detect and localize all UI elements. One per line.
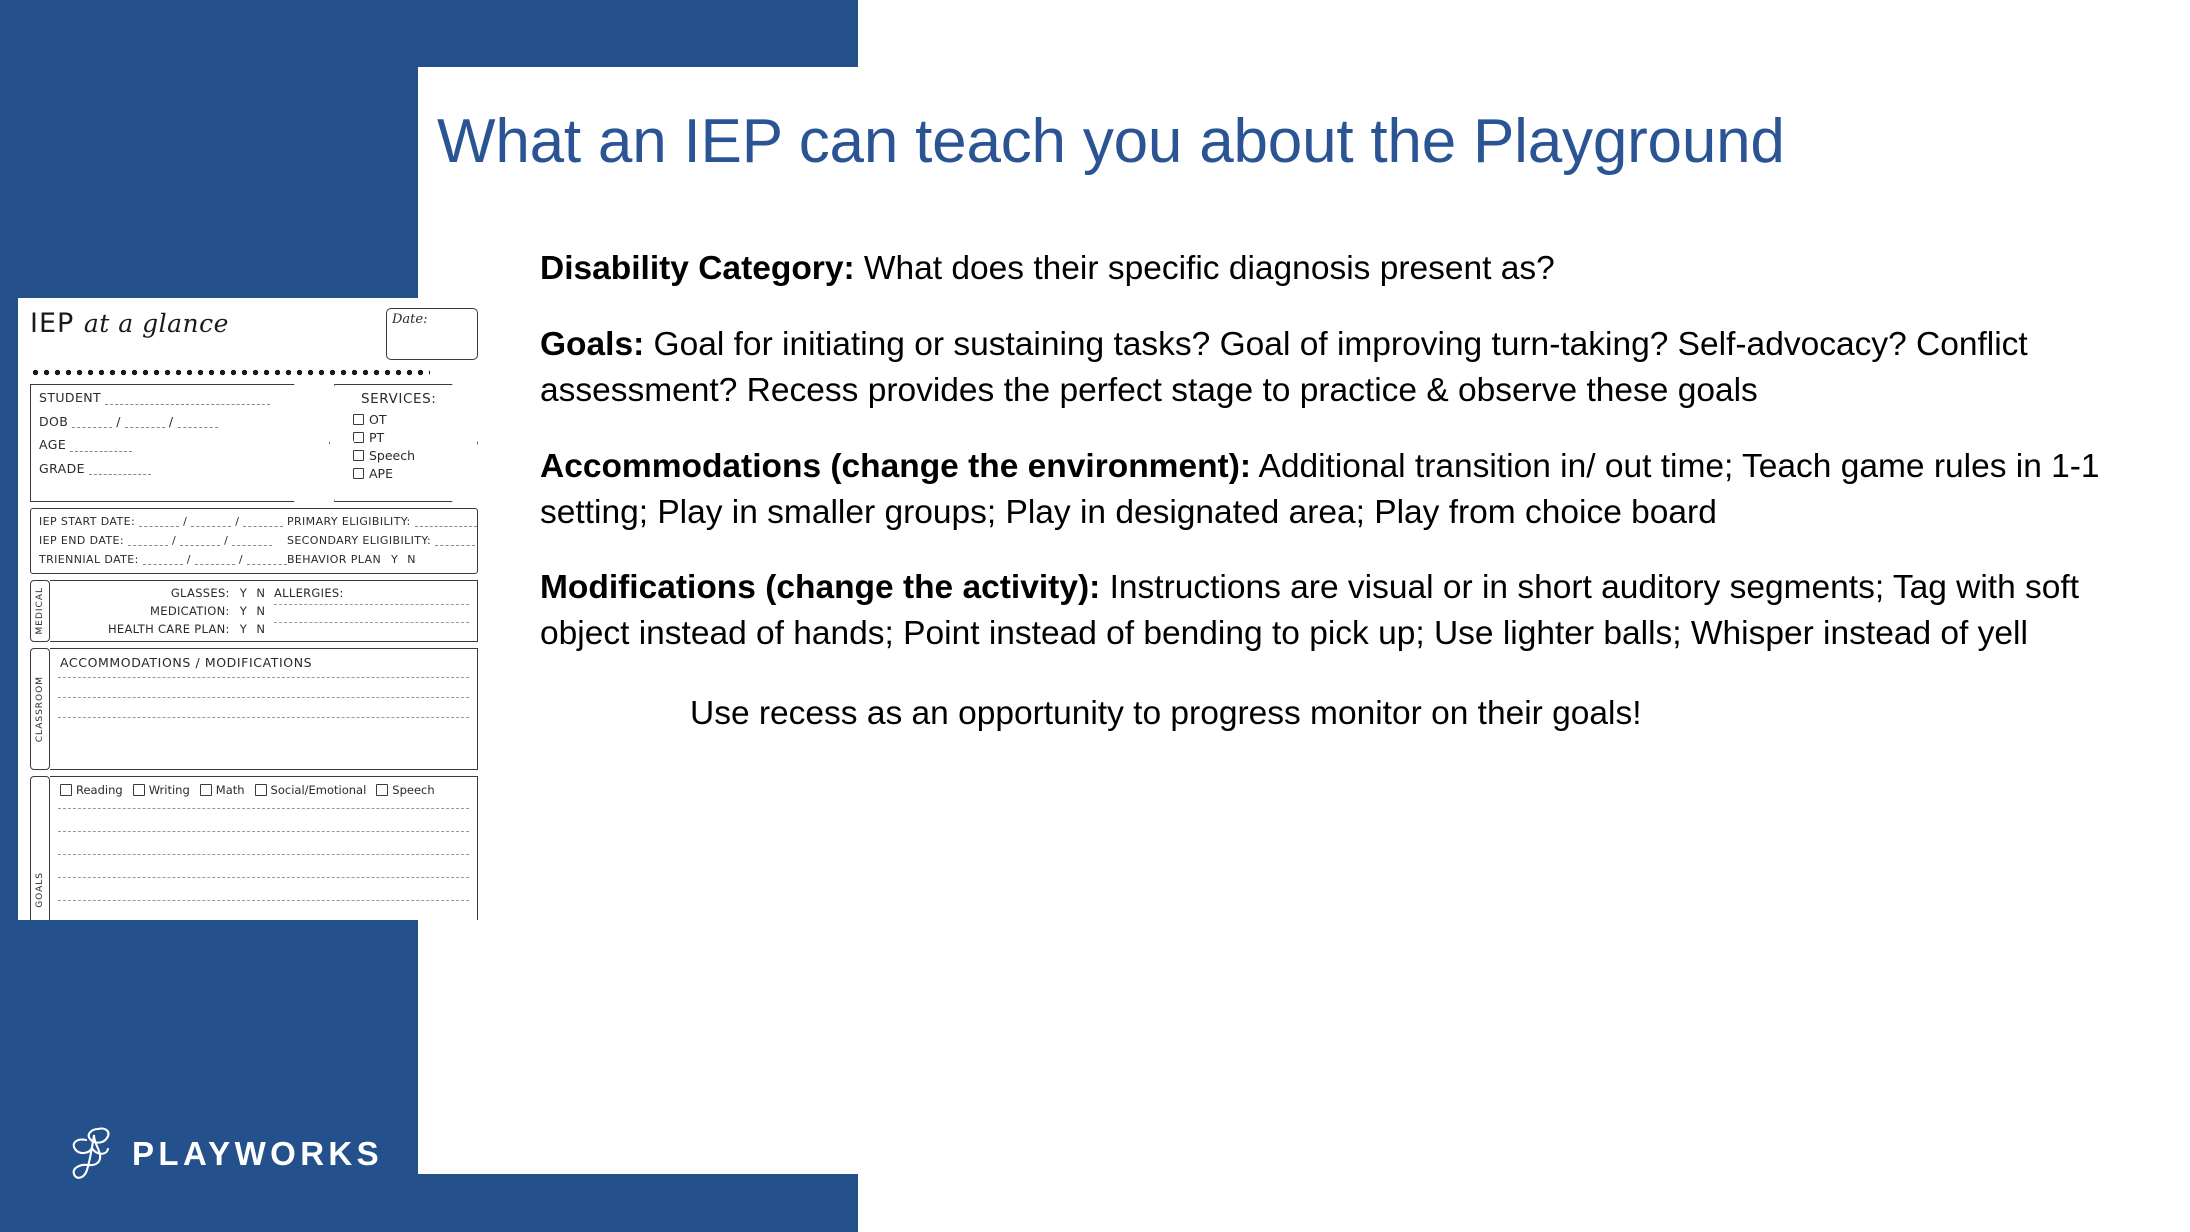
rule xyxy=(128,535,168,546)
iep-secondary-eligibility-label: SECONDARY ELIGIBILITY: xyxy=(287,535,431,546)
iep-behavior-plan-field: BEHAVIOR PLAN Y N xyxy=(287,554,477,565)
slide-body-content: Disability Category: What does their spe… xyxy=(540,246,2120,737)
iep-header-row: IEP at a glance Date: xyxy=(30,308,478,364)
playworks-wordmark: PLAYWORKS xyxy=(132,1137,383,1170)
rule xyxy=(180,535,220,546)
paragraph-disability-category: Disability Category: What does their spe… xyxy=(540,246,2120,292)
iep-service-ot-label: OT xyxy=(369,412,386,427)
iep-goal-speech: Speech xyxy=(376,783,434,797)
iep-age-field: AGE xyxy=(39,439,321,452)
iep-goals-body: Reading Writing Math Social/Emotional xyxy=(50,776,478,920)
iep-medication-label-wrap: MEDICATION: Y N xyxy=(58,603,274,621)
iep-end-date-field: IEP END DATE: / / xyxy=(39,535,287,546)
iep-classroom-body: ACCOMMODATIONS / MODIFICATIONS xyxy=(50,648,478,770)
iep-grade-label: GRADE xyxy=(39,463,85,476)
iep-goals-section: GOALS Reading Writing Math xyxy=(30,776,478,920)
iep-services-heading: SERVICES: xyxy=(361,391,471,407)
iep-dob-slash-2: / xyxy=(169,416,174,429)
iep-medication-yn: Y N xyxy=(234,604,268,618)
iep-dob-rule-1 xyxy=(72,417,112,428)
iep-identity-services-row: STUDENT DOB / / AGE GRADE xyxy=(30,384,478,502)
iep-start-date-label: IEP START DATE: xyxy=(39,516,135,527)
iep-classroom-section: CLASSROOM ACCOMMODATIONS / MODIFICATIONS xyxy=(30,648,478,770)
iep-form-title: IEP at a glance xyxy=(30,308,229,339)
iep-goal-speech-label: Speech xyxy=(392,783,434,797)
dashline xyxy=(274,621,469,623)
paragraph-closing: Use recess as an opportunity to progress… xyxy=(690,691,2120,737)
iep-medical-body: GLASSES: Y N ALLERGIES: MEDICATION: Y N xyxy=(50,580,478,642)
iep-allergies-line-1 xyxy=(274,603,469,621)
paragraph-goals-lead: Goals: xyxy=(540,326,644,363)
iep-dob-rule-3 xyxy=(178,417,218,428)
iep-start-date-field: IEP START DATE: / / xyxy=(39,516,287,527)
iep-medical-tab-label: MEDICAL xyxy=(35,587,45,635)
paragraph-disability-category-lead: Disability Category: xyxy=(540,250,855,287)
iep-goals-checkbox-row: Reading Writing Math Social/Emotional xyxy=(60,783,469,797)
slash: / xyxy=(183,516,187,527)
iep-glasses-label-wrap: GLASSES: Y N xyxy=(58,585,274,603)
iep-triennial-date-label: TRIENNIAL DATE: xyxy=(39,554,139,565)
iep-primary-eligibility-field: PRIMARY ELIGIBILITY: xyxy=(287,516,477,527)
iep-goal-reading: Reading xyxy=(60,783,123,797)
iep-services-block: SERVICES: OT PT Speech APE xyxy=(334,384,478,502)
iep-goal-social-emotional: Social/Emotional xyxy=(255,783,367,797)
checkbox-icon xyxy=(60,784,72,796)
iep-student-field: STUDENT xyxy=(39,392,321,405)
paragraph-disability-category-text: What does their specific diagnosis prese… xyxy=(855,250,1555,287)
iep-accommodations-heading: ACCOMMODATIONS / MODIFICATIONS xyxy=(60,655,469,670)
iep-glasses-yn: Y N xyxy=(234,586,268,600)
page-title: What an IEP can teach you about the Play… xyxy=(437,108,2157,176)
iep-grade-field: GRADE xyxy=(39,463,321,476)
slash: / xyxy=(172,535,176,546)
iep-goal-math: Math xyxy=(200,783,245,797)
checkbox-icon xyxy=(353,450,364,461)
iep-end-date-label: IEP END DATE: xyxy=(39,535,124,546)
iep-medical-section: MEDICAL GLASSES: Y N ALLERGIES: MEDICATI… xyxy=(30,580,478,642)
iep-allergies-line-2 xyxy=(274,621,469,639)
iep-goal-math-label: Math xyxy=(216,783,245,797)
iep-dob-field: DOB / / xyxy=(39,416,321,429)
iep-service-ot: OT xyxy=(353,412,471,427)
dashline xyxy=(58,696,469,698)
iep-at-a-glance-document: IEP at a glance Date: STUDENT DOB / / xyxy=(18,298,490,920)
paragraph-goals-text: Goal for initiating or sustaining tasks?… xyxy=(540,326,2028,409)
iep-service-pt-label: PT xyxy=(369,430,384,445)
iep-student-rule xyxy=(105,394,270,405)
checkbox-icon xyxy=(200,784,212,796)
rule xyxy=(232,535,272,546)
iep-triennial-date-field: TRIENNIAL DATE: / / xyxy=(39,554,287,565)
slash: / xyxy=(224,535,228,546)
dashline xyxy=(58,876,469,878)
iep-dotted-divider xyxy=(30,366,430,378)
iep-medication-label: MEDICATION: xyxy=(150,604,230,618)
iep-age-rule xyxy=(70,441,132,452)
iep-dob-label: DOB xyxy=(39,416,68,429)
iep-service-speech-label: Speech xyxy=(369,448,415,463)
playworks-logo: PLAYWORKS xyxy=(68,1124,383,1182)
paragraph-modifications: Modifications (change the activity): Ins… xyxy=(540,565,2120,657)
iep-goal-reading-label: Reading xyxy=(76,783,123,797)
iep-goal-writing: Writing xyxy=(133,783,190,797)
iep-goal-social-emotional-label: Social/Emotional xyxy=(271,783,367,797)
dashline xyxy=(58,853,469,855)
iep-grade-rule xyxy=(89,464,151,475)
iep-service-speech: Speech xyxy=(353,448,471,463)
iep-title-script: at a glance xyxy=(84,309,229,338)
iep-healthcare-label: HEALTH CARE PLAN: xyxy=(108,622,230,636)
iep-age-label: AGE xyxy=(39,439,66,452)
slash: / xyxy=(187,554,191,565)
rule xyxy=(435,535,475,546)
paragraph-accommodations-lead: Accommodations (change the environment): xyxy=(540,448,1251,485)
iep-dates-eligibility-box: IEP START DATE: / / IEP END DATE: / / xyxy=(30,508,478,574)
iep-dob-slash-1: / xyxy=(116,416,121,429)
rule xyxy=(195,554,235,565)
iep-title-main: IEP xyxy=(30,308,74,339)
checkbox-icon xyxy=(133,784,145,796)
rule xyxy=(143,554,183,565)
iep-service-pt: PT xyxy=(353,430,471,445)
iep-allergies-label: ALLERGIES: xyxy=(274,586,344,600)
blue-accent-top-bar xyxy=(0,0,858,67)
iep-medical-row-glasses: GLASSES: Y N ALLERGIES: xyxy=(58,585,469,603)
iep-allergies-label-wrap: ALLERGIES: xyxy=(274,585,469,603)
dashline xyxy=(58,676,469,678)
iep-primary-eligibility-label: PRIMARY ELIGIBILITY: xyxy=(287,516,411,527)
iep-service-ape: APE xyxy=(353,466,471,481)
iep-service-ape-label: APE xyxy=(369,466,393,481)
iep-behavior-plan-label: BEHAVIOR PLAN xyxy=(287,554,381,565)
iep-medical-tab: MEDICAL xyxy=(30,580,50,642)
rule xyxy=(243,516,283,527)
checkbox-icon xyxy=(376,784,388,796)
paragraph-goals: Goals: Goal for initiating or sustaining… xyxy=(540,322,2120,414)
iep-medical-row-healthcare: HEALTH CARE PLAN: Y N xyxy=(58,621,469,639)
iep-goals-tab-label: GOALS xyxy=(35,872,45,908)
iep-classroom-tab: CLASSROOM xyxy=(30,648,50,770)
slide-canvas: IEP at a glance Date: STUDENT DOB / / xyxy=(0,0,2190,1232)
iep-medical-row-medication: MEDICATION: Y N xyxy=(58,603,469,621)
rule xyxy=(139,516,179,527)
paragraph-accommodations: Accommodations (change the environment):… xyxy=(540,444,2120,536)
iep-eligibility-column: PRIMARY ELIGIBILITY: SECONDARY ELIGIBILI… xyxy=(287,516,477,570)
iep-healthcare-yn: Y N xyxy=(234,622,268,636)
iep-identity-block: STUDENT DOB / / AGE GRADE xyxy=(30,384,330,502)
rule xyxy=(415,516,477,527)
checkbox-icon xyxy=(353,414,364,425)
dashline xyxy=(58,830,469,832)
blue-accent-bottom-bar xyxy=(0,1174,858,1232)
iep-goal-writing-label: Writing xyxy=(149,783,190,797)
iep-dates-column: IEP START DATE: / / IEP END DATE: / / xyxy=(39,516,287,570)
dashline xyxy=(58,716,469,718)
paragraph-modifications-lead: Modifications (change the activity): xyxy=(540,569,1100,606)
rule xyxy=(247,554,287,565)
iep-dob-rule-2 xyxy=(125,417,165,428)
iep-secondary-eligibility-field: SECONDARY ELIGIBILITY: xyxy=(287,535,477,546)
rule xyxy=(191,516,231,527)
iep-date-label: Date: xyxy=(392,312,427,327)
checkbox-icon xyxy=(353,468,364,479)
dashline xyxy=(58,807,469,809)
checkbox-icon xyxy=(353,432,364,443)
playworks-loop-icon xyxy=(68,1124,116,1182)
iep-classroom-tab-label: CLASSROOM xyxy=(35,676,45,742)
iep-healthcare-label-wrap: HEALTH CARE PLAN: Y N xyxy=(58,621,274,639)
dashline xyxy=(58,899,469,901)
iep-glasses-label: GLASSES: xyxy=(171,586,230,600)
checkbox-icon xyxy=(255,784,267,796)
iep-date-box: Date: xyxy=(386,308,478,360)
iep-student-label: STUDENT xyxy=(39,392,101,405)
slash: / xyxy=(239,554,243,565)
iep-behavior-plan-yn: Y N xyxy=(385,554,418,565)
iep-goals-tab: GOALS xyxy=(30,776,50,920)
dashline xyxy=(274,603,469,605)
slash: / xyxy=(235,516,239,527)
